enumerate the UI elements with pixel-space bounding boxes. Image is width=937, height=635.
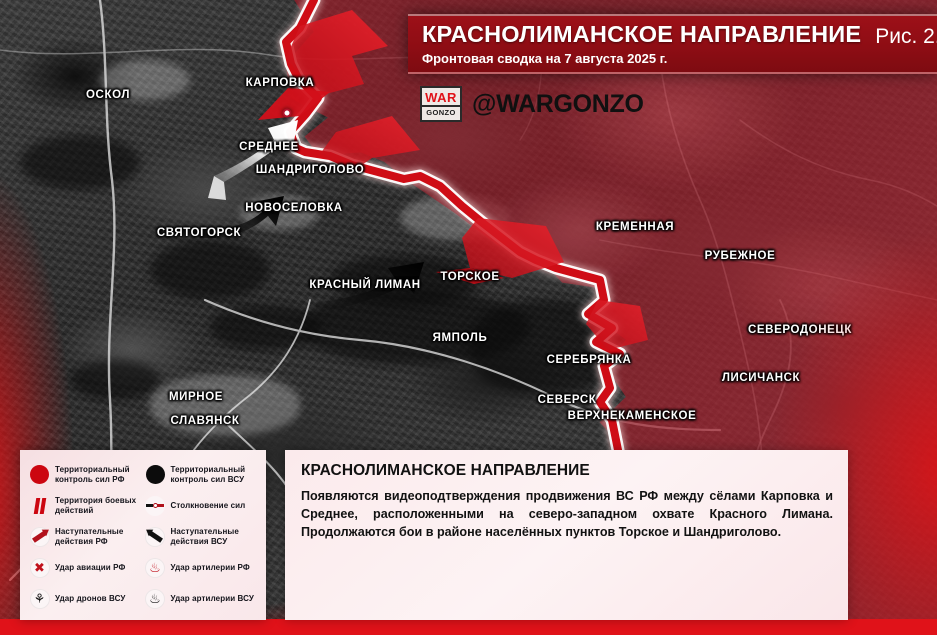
arrow-torskoye [316, 262, 424, 312]
legend-item: Наступательные действия РФ [29, 521, 143, 552]
legend-item-label: Удар авиации РФ [55, 563, 125, 572]
artillery-black-icon: ♨ [145, 588, 166, 609]
title-banner: КРАСНОЛИМАНСКОЕ НАПРАВЛЕНИЕ Фронтовая св… [408, 14, 937, 74]
legend-item-label: Территориальный контроль сил РФ [55, 465, 143, 484]
legend-item-label: Столкновение сил [171, 501, 246, 510]
drone-black-icon: ⚘ [29, 588, 50, 609]
arrow-srednee [206, 120, 298, 200]
bottom-red-band [0, 619, 937, 635]
clash-icon [145, 495, 166, 516]
arrow-black-icon [145, 526, 166, 547]
arrow-novoselovka [200, 196, 284, 238]
social-handle: @WARGONZO [472, 90, 644, 119]
report-body: Появляются видеоподтверждения продвижени… [301, 488, 833, 542]
arrow-red-icon [29, 526, 50, 547]
legend-item-label: Удар артилерии ВСУ [171, 594, 254, 603]
brand-watermark: WAR GONZO @WARGONZO [420, 86, 644, 122]
legend-item-label: Наступательные действия РФ [55, 527, 143, 546]
legend-item-label: Наступательные действия ВСУ [171, 527, 259, 546]
page-subtitle: Фронтовая сводка на 7 августа 2025 г. [422, 51, 861, 66]
map-poster: ОСКОЛ КАРПОВКА СРЕДНЕЕ ШАНДРИГОЛОВО НОВО… [0, 0, 937, 635]
legend-item: Наступательные действия ВСУ [145, 521, 259, 552]
artillery-red-icon: ♨ [145, 557, 166, 578]
figure-label: Рис. 2.3 [875, 25, 937, 49]
circle-black-icon [145, 464, 166, 485]
map-legend: Территориальный контроль сил РФ Территор… [20, 450, 266, 620]
legend-item-label: Удар дронов ВСУ [55, 594, 125, 603]
hatched-bars-icon [29, 495, 50, 516]
airstrike-red-icon: ✖ [29, 557, 50, 578]
wargonzo-logo-icon: WAR GONZO [420, 86, 462, 122]
logo-bottom-text: GONZO [426, 107, 456, 117]
city-marker-karpovka [283, 109, 292, 118]
logo-top-text: WAR [422, 91, 460, 107]
legend-item: ⚘ Удар дронов ВСУ [29, 583, 143, 614]
report-title: КРАСНОЛИМАНСКОЕ НАПРАВЛЕНИЕ [301, 462, 833, 480]
legend-item: ✖ Удар авиации РФ [29, 552, 143, 583]
legend-item: ♨ Удар артилерии РФ [145, 552, 259, 583]
legend-item: Территориальный контроль сил РФ [29, 459, 143, 490]
legend-item: ♨ Удар артилерии ВСУ [145, 583, 259, 614]
legend-item-label: Удар артилерии РФ [171, 563, 250, 572]
legend-item-label: Территориальный контроль сил ВСУ [171, 465, 259, 484]
legend-item: Столкновение сил [145, 490, 259, 521]
legend-item-label: Территория боевых действий [55, 496, 143, 515]
situation-report-panel: КРАСНОЛИМАНСКОЕ НАПРАВЛЕНИЕ Появляются в… [285, 450, 848, 620]
page-title: КРАСНОЛИМАНСКОЕ НАПРАВЛЕНИЕ [422, 22, 861, 47]
legend-item: Территория боевых действий [29, 490, 143, 521]
circle-red-icon [29, 464, 50, 485]
legend-item: Территориальный контроль сил ВСУ [145, 459, 259, 490]
